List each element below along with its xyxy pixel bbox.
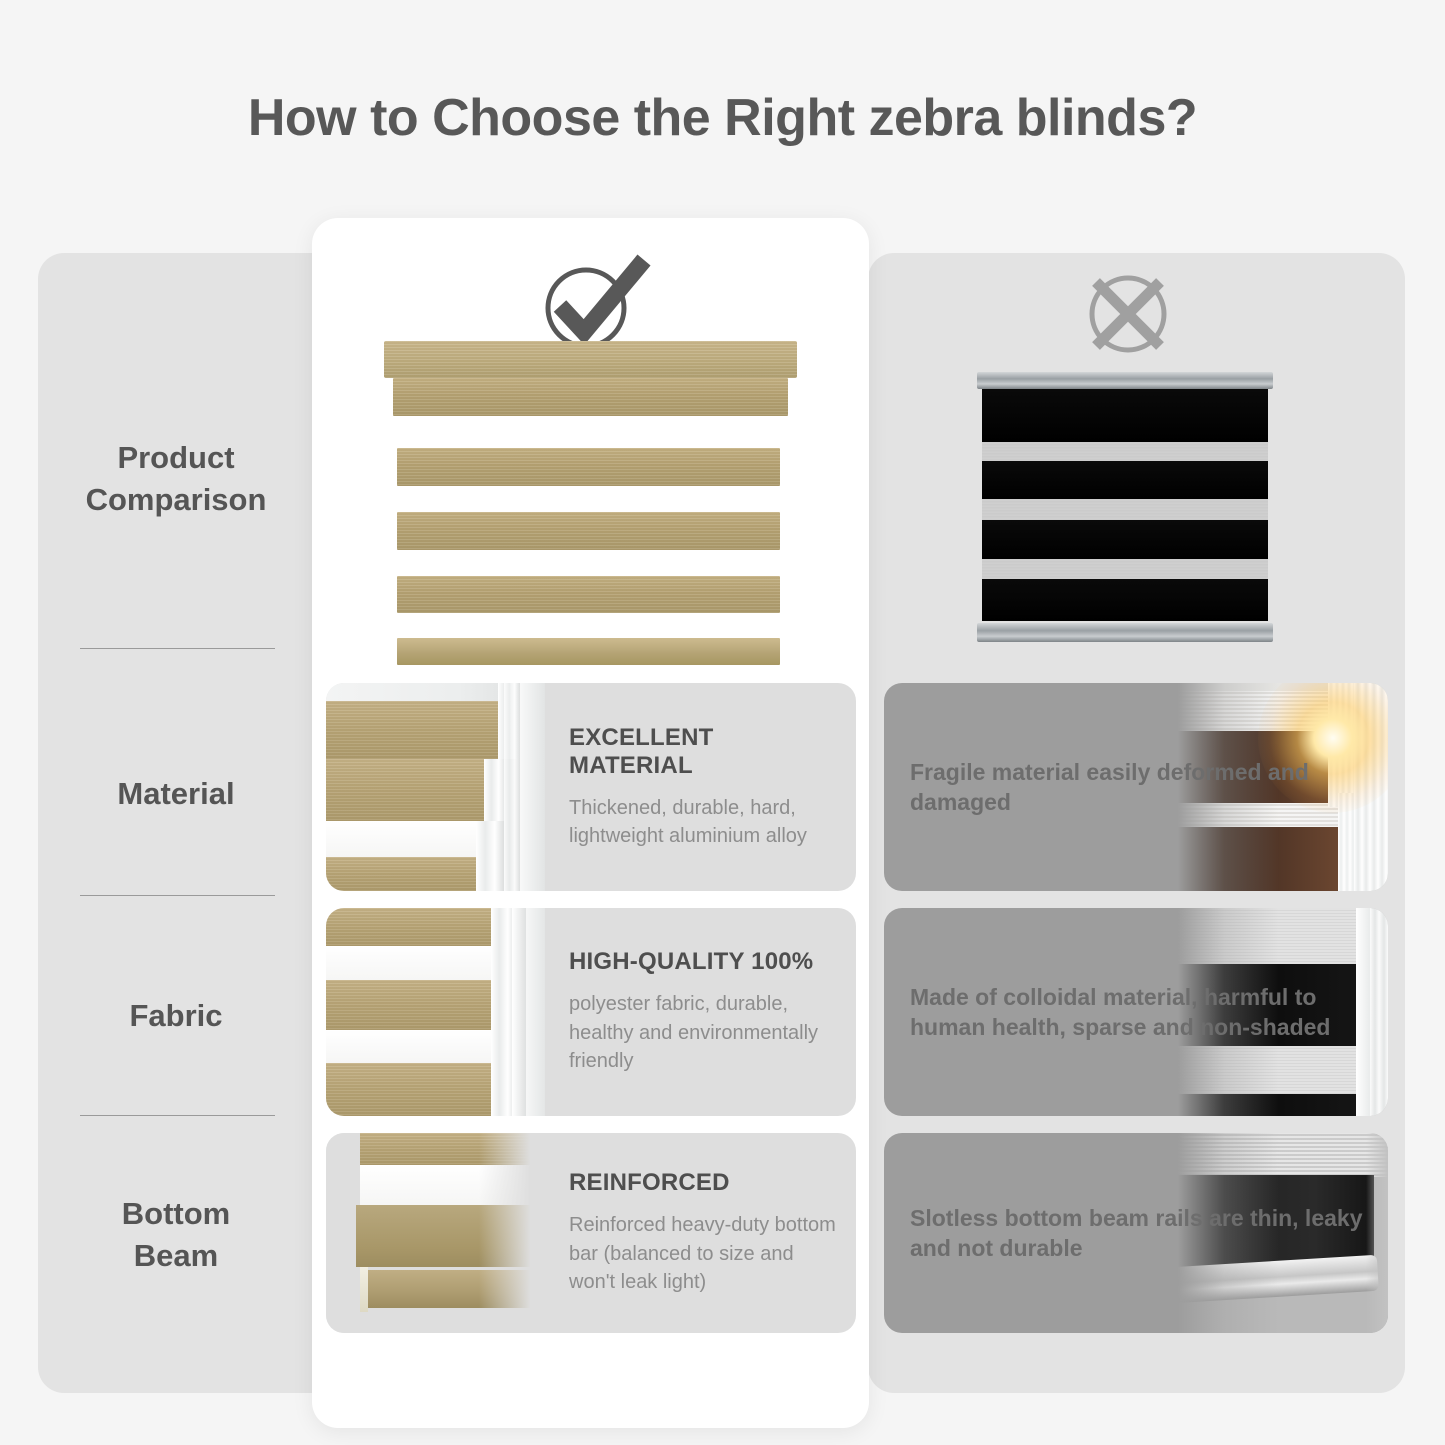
feature-card-bad-bottom-beam: Slotless bottom beam rails are thin, lea… bbox=[884, 1133, 1388, 1333]
hero-image-bad-product bbox=[977, 372, 1273, 645]
row-divider-1 bbox=[80, 648, 275, 649]
feature-copy-good-material: EXCELLENT MATERIAL Thickened, durable, h… bbox=[545, 683, 856, 891]
feature-card-good-fabric: HIGH-QUALITY 100% polyester fabric, dura… bbox=[326, 908, 856, 1116]
feature-image-good-bottom-beam bbox=[326, 1133, 545, 1333]
row-label-line-2: Beam bbox=[40, 1235, 312, 1277]
row-divider-3 bbox=[80, 1115, 275, 1116]
page-title: How to Choose the Right zebra blinds? bbox=[0, 88, 1445, 148]
row-label-fabric: Fabric bbox=[40, 995, 312, 1037]
feature-body: Slotless bottom beam rails are thin, lea… bbox=[910, 1203, 1378, 1264]
feature-body: Fragile material easily deformed and dam… bbox=[910, 757, 1378, 818]
headrail bbox=[977, 372, 1273, 389]
feature-title: EXCELLENT MATERIAL bbox=[569, 724, 838, 780]
feature-copy-bad-material: Fragile material easily deformed and dam… bbox=[884, 683, 1388, 891]
cross-circle-icon bbox=[1082, 268, 1174, 360]
bottom-bar bbox=[977, 623, 1273, 642]
feature-title: REINFORCED bbox=[569, 1169, 838, 1197]
blind-band-dark bbox=[982, 461, 1268, 499]
row-label-rail: Product Comparison Material Fabric Botto… bbox=[40, 253, 312, 1393]
blind-slat bbox=[397, 448, 780, 486]
blind-band-light bbox=[982, 499, 1268, 520]
infographic-canvas: How to Choose the Right zebra blinds? Pr… bbox=[0, 0, 1445, 1445]
check-circle-icon bbox=[540, 252, 652, 352]
row-label-line-1: Product bbox=[40, 437, 312, 479]
feature-copy-good-bottom-beam: REINFORCED Reinforced heavy-duty bottom … bbox=[545, 1133, 856, 1333]
feature-body: polyester fabric, durable, healthy and e… bbox=[569, 990, 838, 1075]
blind-band-light bbox=[982, 442, 1268, 461]
row-label-line-2: Comparison bbox=[40, 479, 312, 521]
feature-image-good-material bbox=[326, 683, 545, 891]
blind-band-dark bbox=[982, 579, 1268, 621]
row-divider-2 bbox=[80, 895, 275, 896]
row-label-line-1: Bottom bbox=[40, 1193, 312, 1235]
feature-body: Reinforced heavy-duty bottom bar (balanc… bbox=[569, 1211, 838, 1296]
blind-slat bbox=[397, 576, 780, 613]
feature-body: Made of colloidal material, harmful to h… bbox=[910, 982, 1378, 1043]
feature-title: HIGH-QUALITY 100% bbox=[569, 948, 838, 976]
feature-card-bad-fabric: Made of colloidal material, harmful to h… bbox=[884, 908, 1388, 1116]
blind-slat bbox=[393, 378, 788, 416]
feature-copy-bad-bottom-beam: Slotless bottom beam rails are thin, lea… bbox=[884, 1133, 1388, 1333]
feature-copy-good-fabric: HIGH-QUALITY 100% polyester fabric, dura… bbox=[545, 908, 856, 1116]
end-cap bbox=[360, 1267, 368, 1312]
hero-image-good-product bbox=[384, 341, 797, 665]
feature-card-good-bottom-beam: REINFORCED Reinforced heavy-duty bottom … bbox=[326, 1133, 856, 1333]
row-label-bottom-beam: Bottom Beam bbox=[40, 1193, 312, 1277]
feature-card-bad-material: Fragile material easily deformed and dam… bbox=[884, 683, 1388, 891]
bottom-bar bbox=[397, 638, 780, 665]
feature-body: Thickened, durable, hard, lightweight al… bbox=[569, 794, 838, 851]
blind-band-light bbox=[982, 559, 1268, 579]
blind-band-dark bbox=[982, 389, 1268, 442]
row-label-product-comparison: Product Comparison bbox=[40, 437, 312, 521]
feature-card-good-material: EXCELLENT MATERIAL Thickened, durable, h… bbox=[326, 683, 856, 891]
feature-image-good-fabric bbox=[326, 908, 545, 1116]
headrail bbox=[384, 341, 797, 378]
blind-band-dark bbox=[982, 520, 1268, 559]
row-label-material: Material bbox=[40, 773, 312, 815]
feature-copy-bad-fabric: Made of colloidal material, harmful to h… bbox=[884, 908, 1388, 1116]
blind-slat bbox=[397, 512, 780, 550]
